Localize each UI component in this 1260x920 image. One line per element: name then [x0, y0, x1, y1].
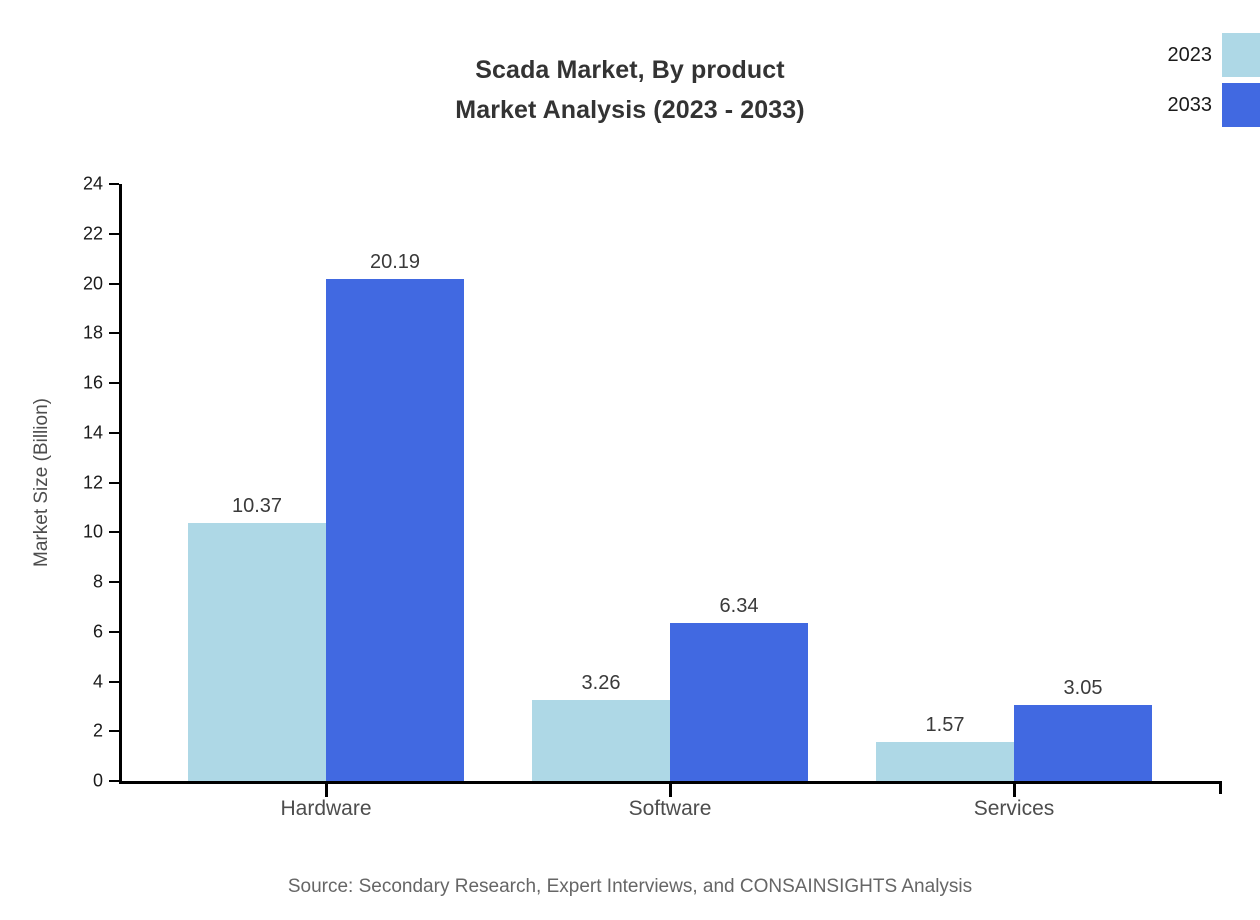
y-axis-tick: [109, 233, 119, 235]
bar-value-label: 10.37: [232, 495, 282, 523]
x-axis-tick: [325, 784, 328, 797]
x-axis-tick-label: Software: [629, 797, 712, 821]
source-note: Source: Secondary Research, Expert Inter…: [0, 876, 1260, 898]
bar-value-label: 20.19: [370, 251, 420, 279]
x-axis-tick-label: Hardware: [280, 797, 371, 821]
y-axis-tick-label: 0: [93, 771, 103, 792]
bar-chart: Scada Market, By product Market Analysis…: [0, 0, 1260, 920]
bar-hardware-2033[interactable]: [326, 279, 464, 781]
y-axis-tick-label: 8: [93, 572, 103, 593]
y-axis-tick: [109, 531, 119, 533]
legend-label-2023: 2023: [1100, 30, 1212, 80]
y-axis-tick: [109, 382, 119, 384]
bar-value-label: 1.57: [926, 714, 965, 742]
y-axis-tick: [109, 780, 119, 782]
legend-swatch-2033: [1222, 83, 1260, 127]
bar-services-2023[interactable]: [876, 742, 1014, 781]
y-axis-tick: [109, 631, 119, 633]
x-axis-tick: [1013, 784, 1016, 797]
y-axis-tick: [109, 681, 119, 683]
plot-area: 024681012141618202224 HardwareSoftwareSe…: [122, 184, 1222, 781]
chart-title-line-2: Market Analysis (2023 - 2033): [0, 90, 1260, 130]
y-axis-spine: [119, 184, 122, 782]
y-axis-tick-label: 6: [93, 621, 103, 642]
bar-hardware-2023[interactable]: [188, 523, 326, 781]
bar-value-label: 3.26: [582, 672, 621, 700]
y-axis-tick-label: 4: [93, 671, 103, 692]
chart-title-line-1: Scada Market, By product: [0, 50, 1260, 90]
y-axis-tick: [109, 730, 119, 732]
legend-label-2033: 2033: [1100, 80, 1212, 130]
y-axis-tick: [109, 482, 119, 484]
y-axis-tick: [109, 332, 119, 334]
bar-value-label: 6.34: [720, 595, 759, 623]
y-axis-tick-label: 18: [83, 323, 103, 344]
y-axis-tick-label: 16: [83, 373, 103, 394]
x-axis-tick-label: Services: [974, 797, 1055, 821]
x-axis-end-tick: [1219, 781, 1222, 794]
y-axis-tick-label: 22: [83, 223, 103, 244]
legend: 2023 2033: [1100, 30, 1260, 130]
y-axis-title: Market Size (Billion): [22, 184, 62, 781]
y-axis-tick-label: 2: [93, 721, 103, 742]
legend-swatch-2023: [1222, 33, 1260, 77]
y-axis-tick-label: 20: [83, 273, 103, 294]
y-axis-tick: [109, 183, 119, 185]
y-axis-tick: [109, 283, 119, 285]
legend-item-2033[interactable]: 2033: [1100, 80, 1260, 130]
legend-item-2023[interactable]: 2023: [1100, 30, 1260, 80]
y-axis-tick: [109, 581, 119, 583]
y-axis-tick-label: 14: [83, 422, 103, 443]
x-axis-tick: [669, 784, 672, 797]
y-axis-tick-label: 12: [83, 472, 103, 493]
y-axis-tick-label: 24: [83, 174, 103, 195]
bar-value-label: 3.05: [1064, 677, 1103, 705]
bar-software-2033[interactable]: [670, 623, 808, 781]
bar-software-2023[interactable]: [532, 700, 670, 781]
y-axis-tick-label: 10: [83, 522, 103, 543]
y-axis-tick: [109, 432, 119, 434]
bar-services-2033[interactable]: [1014, 705, 1152, 781]
chart-title: Scada Market, By product Market Analysis…: [0, 50, 1260, 130]
